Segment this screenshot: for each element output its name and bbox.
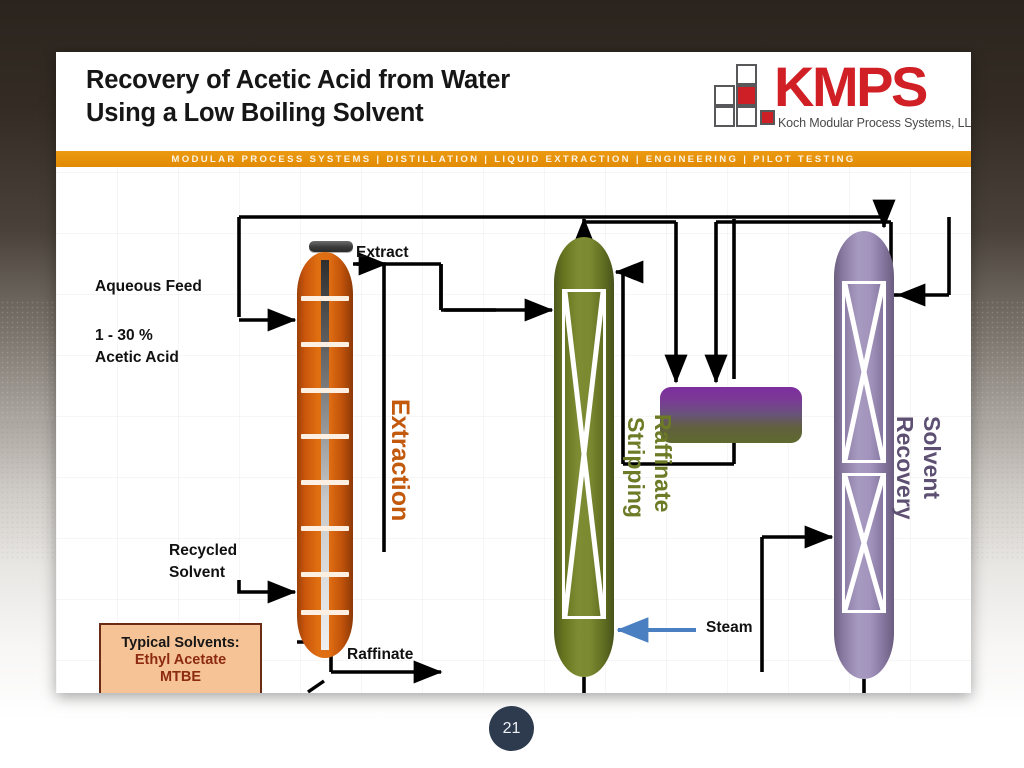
raffinate-stripping-label-line2: Stripping (622, 417, 649, 518)
raffinate-label: Raffinate (347, 646, 413, 664)
process-flow-diagram: Aqueous Feed 1 - 30 % Acetic Acid Recycl… (56, 167, 971, 693)
orange-banner: MODULAR PROCESS SYSTEMS | DISTILLATION |… (56, 151, 971, 167)
raffinate-stripping-label-line1: Raffinate (649, 414, 676, 512)
raffinate-stripping-column (554, 237, 614, 677)
decanter-vessel (660, 387, 802, 443)
typical-solvents-box: Typical Solvents: Ethyl Acetate MTBE (99, 623, 262, 693)
recycled-solvent-label-line2: Solvent (169, 564, 225, 582)
slide: Recovery of Acetic Acid from Water Using… (56, 52, 971, 693)
page-title-line2: Using a Low Boiling Solvent (86, 97, 510, 130)
typical-solvent-item-1: MTBE (160, 669, 201, 685)
extraction-column-agitator-drive (309, 241, 353, 252)
kmps-logo: KMPS Koch Modular Process Systems, LLC. (698, 58, 963, 146)
extraction-column-label: Extraction (385, 399, 414, 521)
packed-bed (562, 289, 606, 619)
extraction-column (297, 252, 353, 658)
logo-wordmark: KMPS (774, 54, 926, 119)
packed-bed-upper (842, 281, 886, 463)
typical-solvent-item-0: Ethyl Acetate (135, 652, 226, 668)
packed-bed-lower (842, 473, 886, 613)
logo-squares-icon (714, 64, 776, 126)
typical-solvents-heading: Typical Solvents: (121, 635, 239, 651)
feed-component-label: Acetic Acid (95, 349, 179, 367)
feed-concentration-label: 1 - 30 % (95, 327, 153, 345)
aqueous-feed-label: Aqueous Feed (95, 278, 202, 296)
solvent-recovery-label-line1: Solvent (918, 416, 945, 499)
recycled-solvent-label-line1: Recycled (169, 542, 237, 560)
agitator-shaft (321, 260, 329, 650)
acetic-acid-label: Acetic Acid (878, 692, 962, 693)
page-title-line1: Recovery of Acetic Acid from Water (86, 64, 510, 97)
extract-label: Extract (356, 244, 409, 262)
steam-label: Steam (706, 619, 753, 637)
page-title: Recovery of Acetic Acid from Water Using… (86, 64, 510, 129)
solvent-recovery-label-line2: Recovery (891, 416, 918, 520)
solvent-recovery-column (834, 231, 894, 679)
banner-text: MODULAR PROCESS SYSTEMS | DISTILLATION |… (56, 151, 971, 167)
page-number-badge: 21 (489, 706, 534, 751)
logo-tagline: Koch Modular Process Systems, LLC. (778, 116, 971, 130)
